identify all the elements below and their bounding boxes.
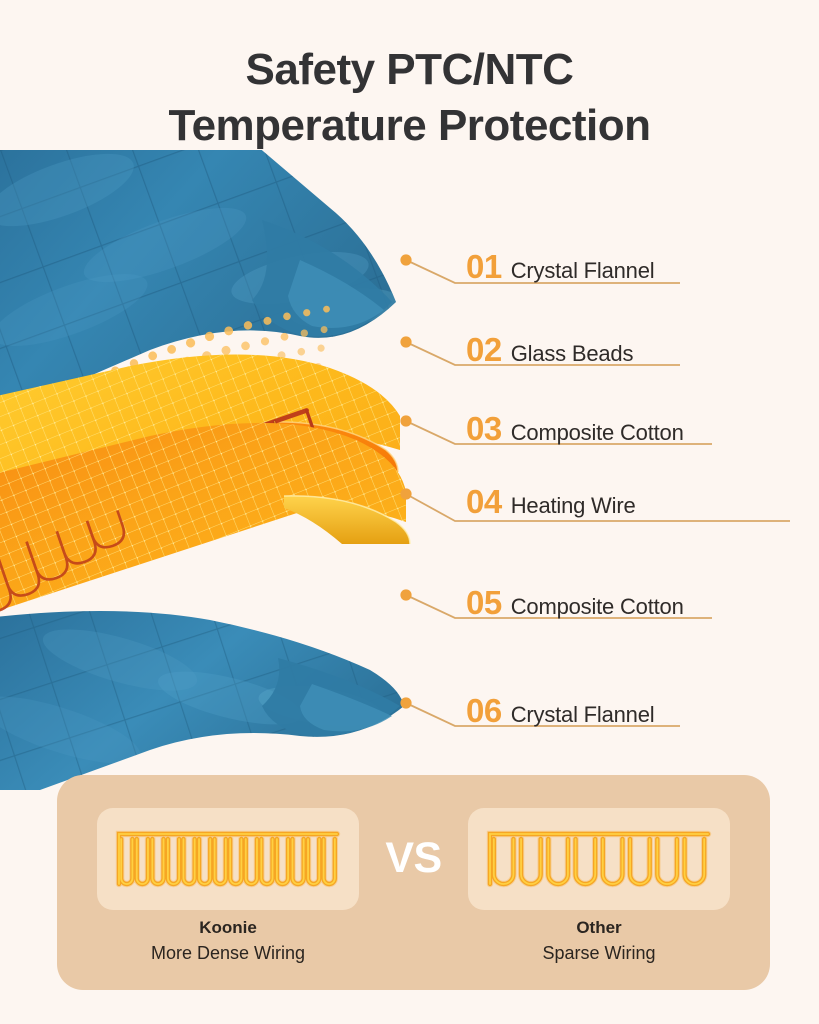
callout-number-05: 05 [466, 584, 502, 622]
page-title: Safety PTC/NTC Temperature Protection [0, 42, 819, 155]
callout-label-04: Heating Wire [511, 493, 636, 519]
callout-number-01: 01 [466, 248, 502, 286]
callout-text-06: 06 Crystal Flannel [466, 692, 654, 730]
dense-wiring-diagram [109, 822, 347, 896]
comparison-labels-row: Koonie More Dense Wiring Other Sparse Wi… [57, 918, 770, 964]
infographic-page: Safety PTC/NTC Temperature Protection [0, 0, 819, 1024]
wiring-card-other [468, 808, 730, 910]
label-col-koonie: Koonie More Dense Wiring [97, 918, 359, 964]
callout-text-04: 04 Heating Wire [466, 483, 635, 521]
callout-text-03: 03 Composite Cotton [466, 410, 684, 448]
layered-blanket-illustration [0, 150, 420, 790]
brand-name-koonie: Koonie [97, 918, 359, 938]
sparse-wiring-diagram [480, 822, 718, 896]
brand-desc-koonie: More Dense Wiring [97, 943, 359, 964]
layer-crystal-flannel-bottom [0, 590, 420, 790]
title-line-2: Temperature Protection [0, 98, 819, 154]
label-col-other: Other Sparse Wiring [468, 918, 730, 964]
wiring-card-koonie [97, 808, 359, 910]
callout-text-01: 01 Crystal Flannel [466, 248, 654, 286]
vs-label: VS [385, 834, 441, 883]
callout-text-05: 05 Composite Cotton [466, 584, 684, 622]
callout-number-06: 06 [466, 692, 502, 730]
comparison-cards-row: VS [57, 775, 770, 920]
callout-label-01: Crystal Flannel [511, 258, 655, 284]
callout-number-04: 04 [466, 483, 502, 521]
title-line-1: Safety PTC/NTC [0, 42, 819, 98]
callout-label-05: Composite Cotton [511, 594, 684, 620]
callout-number-03: 03 [466, 410, 502, 448]
callout-label-03: Composite Cotton [511, 420, 684, 446]
brand-desc-other: Sparse Wiring [468, 943, 730, 964]
callout-text-02: 02 Glass Beads [466, 331, 633, 369]
brand-name-other: Other [468, 918, 730, 938]
callout-number-02: 02 [466, 331, 502, 369]
wiring-comparison-panel: VS Koonie More Dense Wiring Other Sparse… [57, 775, 770, 990]
callout-label-06: Crystal Flannel [511, 702, 655, 728]
callout-label-02: Glass Beads [511, 341, 634, 367]
